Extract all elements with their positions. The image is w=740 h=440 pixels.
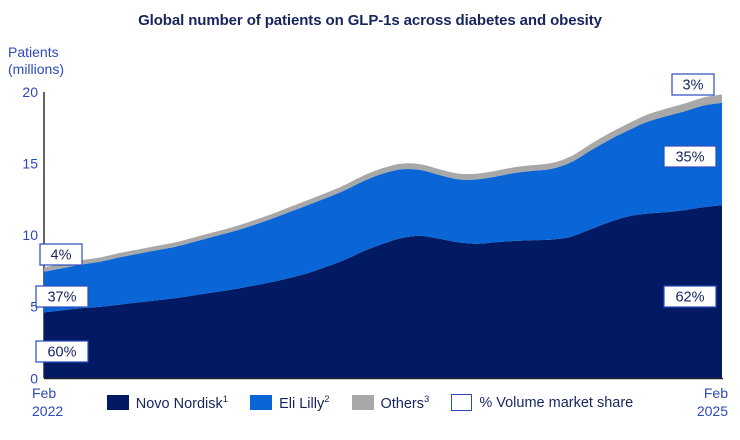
legend-item-eli-lilly[interactable]: Eli Lilly2 xyxy=(250,394,329,412)
stacked-area-plot: 05101520 4%37%60%3%35%62% xyxy=(0,0,740,440)
area-series-group xyxy=(44,94,722,378)
y-tick-label: 20 xyxy=(22,84,38,100)
others-share-start: 4% xyxy=(51,248,72,264)
chart-container: Global number of patients on GLP-1s acro… xyxy=(0,0,740,440)
legend-label: % Volume market share xyxy=(479,395,633,411)
novo-share-end: 62% xyxy=(675,290,704,306)
legend-label: Eli Lilly2 xyxy=(279,394,329,412)
navy-swatch xyxy=(107,395,129,410)
novo-share-start: 60% xyxy=(47,345,76,361)
legend-item-novo-nordisk[interactable]: Novo Nordisk1 xyxy=(107,394,228,412)
eli-lilly-share-end: 35% xyxy=(675,150,704,166)
chart-legend: Novo Nordisk1Eli Lilly2Others3% Volume m… xyxy=(0,394,740,412)
blue-swatch xyxy=(250,395,272,410)
gray-swatch xyxy=(352,395,374,410)
eli-lilly-share-start: 37% xyxy=(47,290,76,306)
legend-label: Novo Nordisk1 xyxy=(136,394,228,412)
y-tick-label: 10 xyxy=(22,227,38,243)
y-tick-label: 15 xyxy=(22,156,38,172)
outline-swatch xyxy=(451,394,472,411)
others-share-end: 3% xyxy=(683,78,704,94)
legend-item-volume-market-share[interactable]: % Volume market share xyxy=(451,394,633,411)
legend-item-others[interactable]: Others3 xyxy=(352,394,430,412)
legend-label: Others3 xyxy=(381,394,430,412)
